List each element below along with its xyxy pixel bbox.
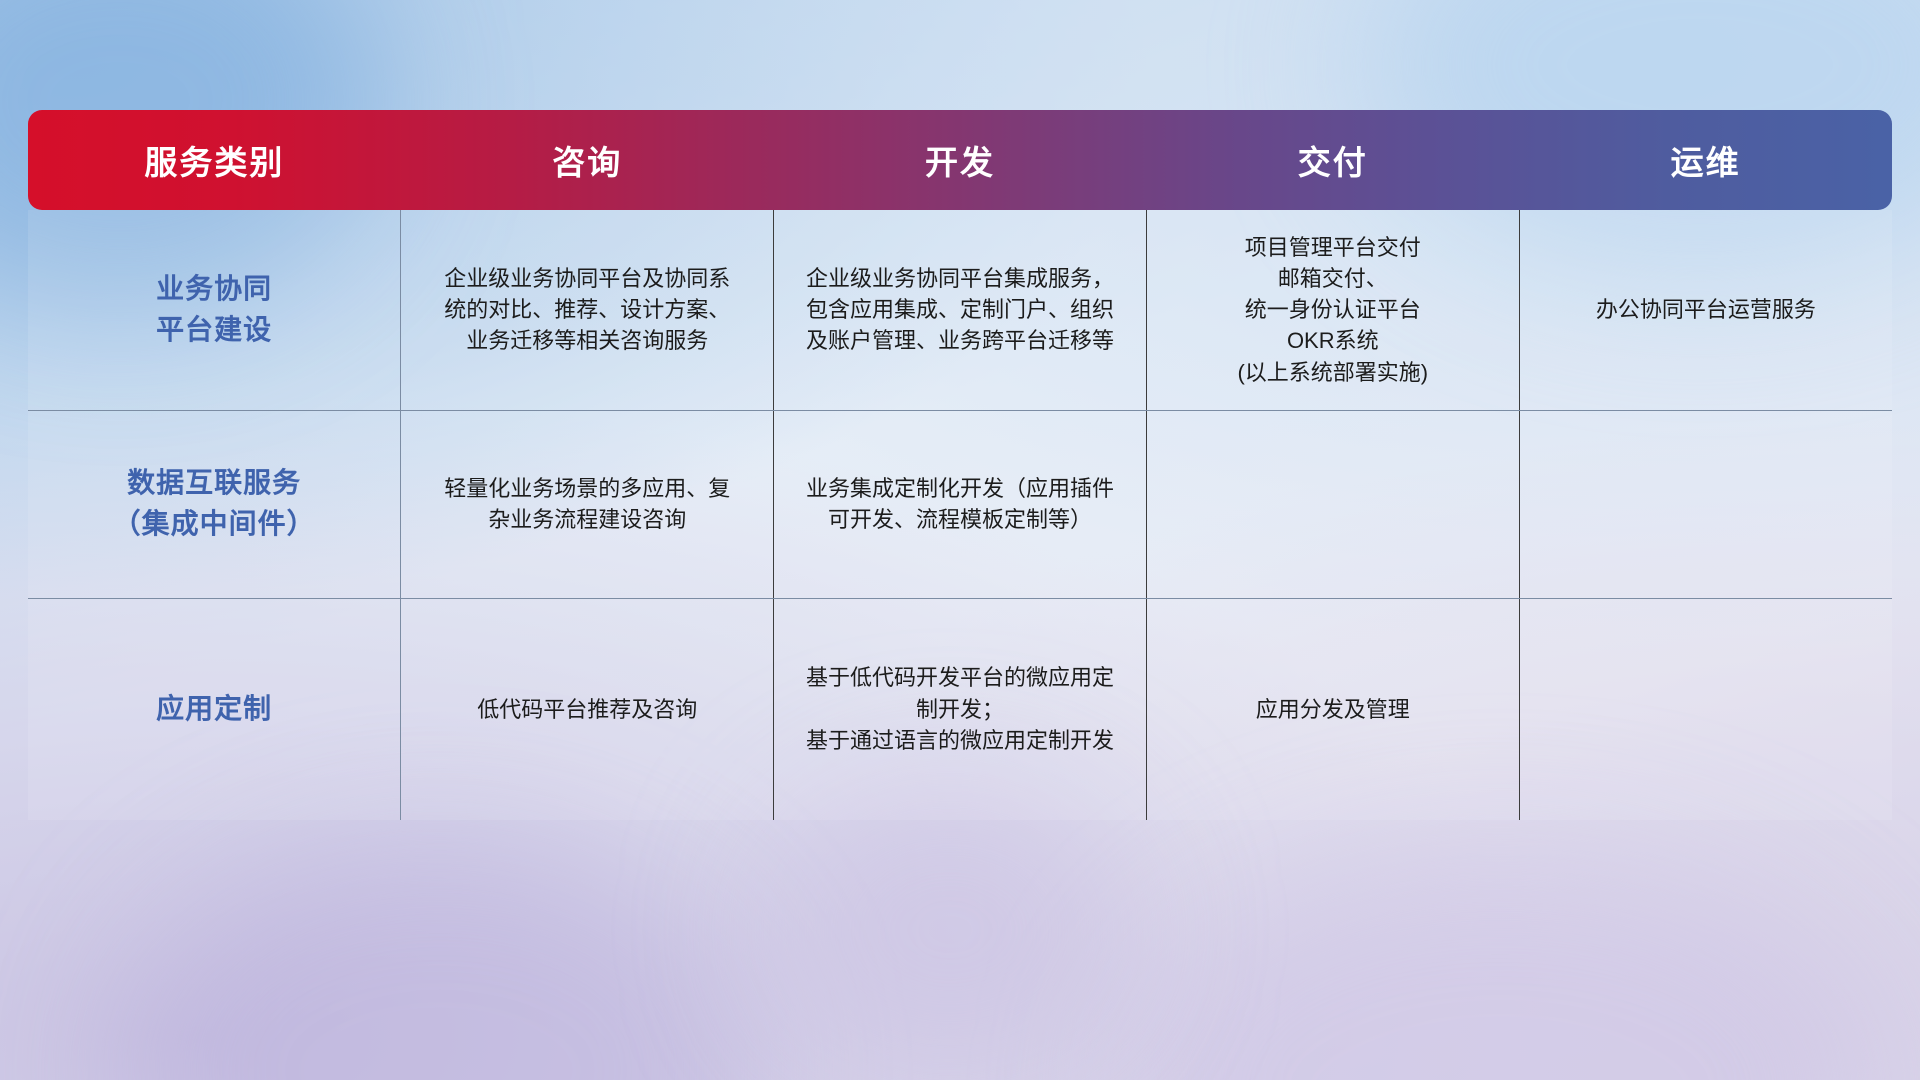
header-cell-development: 开发	[774, 110, 1147, 210]
header-cell-delivery: 交付	[1146, 110, 1519, 210]
cell-category-row3: 应用定制	[28, 598, 401, 820]
cell-delivery-row3: 应用分发及管理	[1146, 598, 1519, 820]
table-row: 应用定制 低代码平台推荐及咨询 基于低代码开发平台的微应用定 制开发； 基于通过…	[28, 598, 1892, 820]
cell-text-operations-row3	[1536, 709, 1876, 710]
cell-category-row2: 数据互联服务 （集成中间件）	[28, 410, 401, 598]
cell-development-row2: 业务集成定制化开发（应用插件 可开发、流程模板定制等）	[774, 410, 1147, 598]
matrix-header: 服务类别 咨询 开发 交付 运维	[28, 110, 1892, 210]
header-label-consulting: 咨询	[552, 144, 622, 181]
cell-text-consulting-row1: 企业级业务协同平台及协同系 统的对比、推荐、设计方案、 业务迁移等相关咨询服务	[417, 263, 757, 357]
cell-development-row1: 企业级业务协同平台集成服务， 包含应用集成、定制门户、组织 及账户管理、业务跨平…	[774, 210, 1147, 410]
cell-operations-row3	[1519, 598, 1892, 820]
cell-consulting-row2: 轻量化业务场景的多应用、复 杂业务流程建设咨询	[401, 410, 774, 598]
table-row: 数据互联服务 （集成中间件） 轻量化业务场景的多应用、复 杂业务流程建设咨询 业…	[28, 410, 1892, 598]
table-row: 业务协同 平台建设 企业级业务协同平台及协同系 统的对比、推荐、设计方案、 业务…	[28, 210, 1892, 410]
cell-operations-row1: 办公协同平台运营服务	[1519, 210, 1892, 410]
header-label-delivery: 交付	[1298, 144, 1368, 181]
header-label-category: 服务类别	[144, 144, 284, 181]
cell-delivery-row1: 项目管理平台交付 邮箱交付、 统一身份认证平台 OKR系统 (以上系统部署实施)	[1146, 210, 1519, 410]
category-label-row2: 数据互联服务 （集成中间件）	[44, 463, 384, 544]
category-label-row3: 应用定制	[44, 689, 384, 730]
header-row: 服务类别 咨询 开发 交付 运维	[28, 110, 1892, 210]
cell-text-delivery-row1: 项目管理平台交付 邮箱交付、 统一身份认证平台 OKR系统 (以上系统部署实施)	[1163, 232, 1503, 388]
header-cell-category: 服务类别	[28, 110, 401, 210]
cell-operations-row2	[1519, 410, 1892, 598]
matrix-body: 业务协同 平台建设 企业级业务协同平台及协同系 统的对比、推荐、设计方案、 业务…	[28, 210, 1892, 820]
cell-text-delivery-row3: 应用分发及管理	[1163, 694, 1503, 725]
cell-consulting-row1: 企业级业务协同平台及协同系 统的对比、推荐、设计方案、 业务迁移等相关咨询服务	[401, 210, 774, 410]
cell-text-operations-row2	[1536, 504, 1876, 505]
service-matrix-table: 服务类别 咨询 开发 交付 运维	[28, 110, 1892, 820]
cell-category-row1: 业务协同 平台建设	[28, 210, 401, 410]
cell-text-consulting-row3: 低代码平台推荐及咨询	[417, 694, 757, 725]
cell-delivery-row2	[1146, 410, 1519, 598]
cell-text-development-row1: 企业级业务协同平台集成服务， 包含应用集成、定制门户、组织 及账户管理、业务跨平…	[790, 263, 1130, 357]
cell-text-development-row2: 业务集成定制化开发（应用插件 可开发、流程模板定制等）	[790, 473, 1130, 535]
cell-text-development-row3: 基于低代码开发平台的微应用定 制开发； 基于通过语言的微应用定制开发	[790, 662, 1130, 756]
header-cell-operations: 运维	[1519, 110, 1892, 210]
cell-development-row3: 基于低代码开发平台的微应用定 制开发； 基于通过语言的微应用定制开发	[774, 598, 1147, 820]
service-matrix-container: 服务类别 咨询 开发 交付 运维	[28, 110, 1892, 778]
header-label-operations: 运维	[1671, 144, 1741, 181]
cell-consulting-row3: 低代码平台推荐及咨询	[401, 598, 774, 820]
cell-text-delivery-row2	[1163, 504, 1503, 505]
header-label-development: 开发	[925, 144, 995, 181]
header-cell-consulting: 咨询	[401, 110, 774, 210]
cell-text-operations-row1: 办公协同平台运营服务	[1536, 294, 1876, 325]
cell-text-consulting-row2: 轻量化业务场景的多应用、复 杂业务流程建设咨询	[417, 473, 757, 535]
category-label-row1: 业务协同 平台建设	[44, 269, 384, 350]
